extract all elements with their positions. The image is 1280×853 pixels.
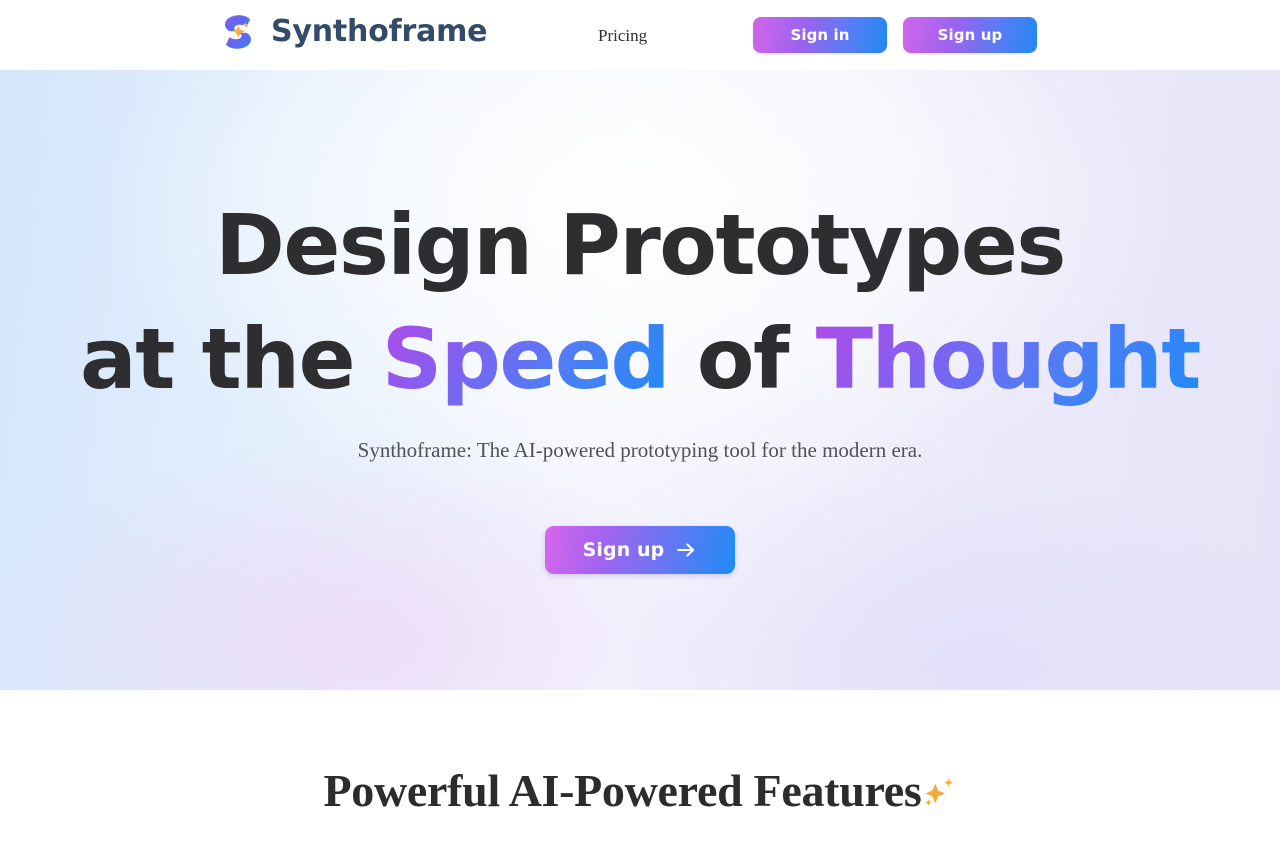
header-nav: Pricing	[598, 25, 647, 46]
headline-accent-speed: Speed	[382, 310, 669, 408]
features-heading: Powerful AI-Powered Features	[0, 763, 1280, 819]
brand-logo-link[interactable]: Synthoframe	[219, 12, 487, 52]
hero-cta-wrapper: Sign up	[0, 526, 1280, 574]
headline-text-of: of	[669, 310, 816, 408]
headline-text-at-the: at the	[80, 310, 382, 408]
sparkles-icon	[920, 768, 956, 804]
hero-section: Design Prototypes at the Speed of Though…	[0, 70, 1280, 690]
hero-content: Design Prototypes at the Speed of Though…	[0, 70, 1280, 574]
hero-sign-up-button[interactable]: Sign up	[545, 526, 735, 574]
synthoframe-s-sparkle-logo	[219, 12, 257, 52]
headline-line-1: Design Prototypes	[0, 188, 1280, 302]
hero-cta-label: Sign up	[583, 539, 665, 561]
nav-link-pricing[interactable]: Pricing	[598, 26, 647, 45]
page-title: Design Prototypes at the Speed of Though…	[0, 70, 1280, 416]
hero-subheadline: Synthoframe: The AI-powered prototyping …	[0, 437, 1280, 463]
sign-in-button[interactable]: Sign in	[753, 17, 887, 53]
site-header: Synthoframe Pricing Sign in Sign up	[0, 0, 1280, 70]
features-heading-text: Powerful AI-Powered Features	[324, 765, 922, 816]
sign-up-button-header[interactable]: Sign up	[903, 17, 1037, 53]
headline-accent-thought: Thought	[816, 310, 1200, 408]
features-section: Powerful AI-Powered Features	[0, 690, 1280, 853]
headline-line-2: at the Speed of Thought	[0, 302, 1280, 416]
header-actions: Sign in Sign up	[753, 17, 1037, 53]
sparkles-icon-svg	[920, 775, 956, 811]
arrow-right-icon	[675, 539, 697, 561]
brand-name: Synthoframe	[271, 17, 487, 47]
